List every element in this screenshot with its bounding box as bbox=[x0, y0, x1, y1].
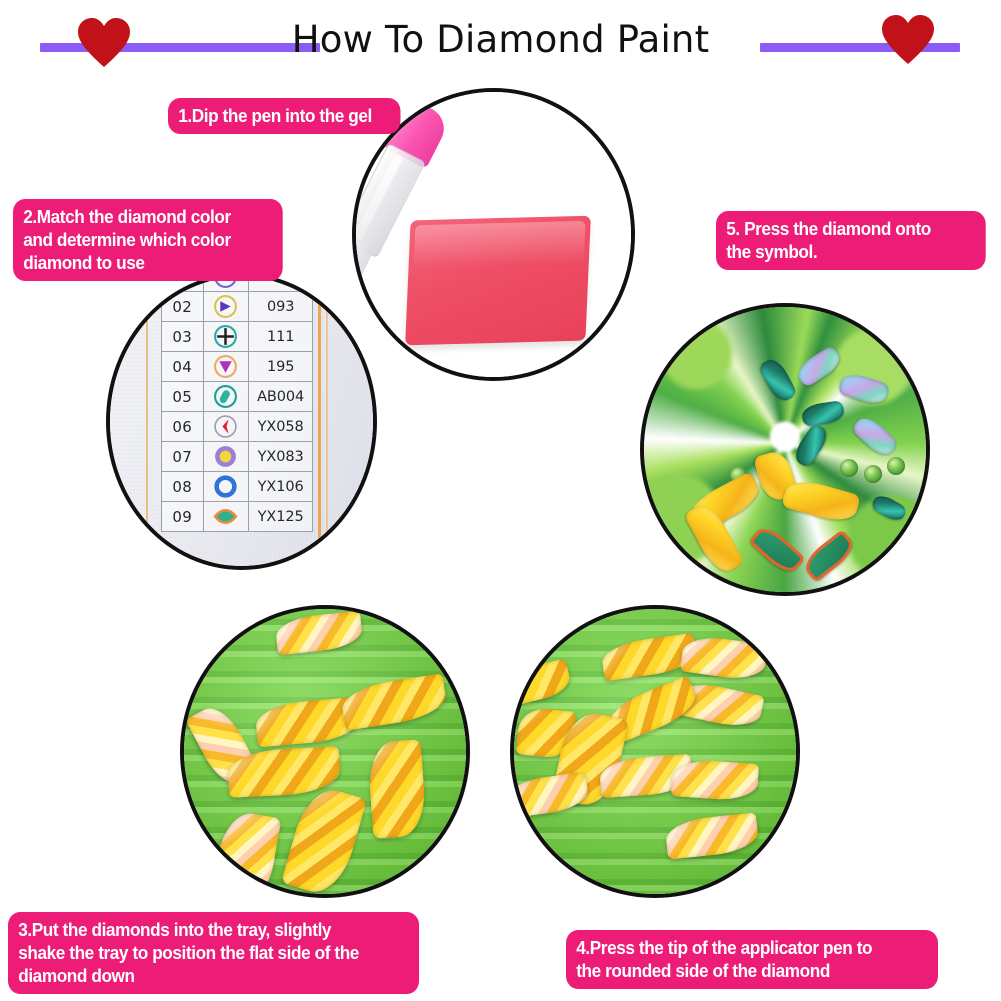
table-row: 05 AB004 bbox=[162, 382, 313, 412]
ring-symbol bbox=[203, 472, 249, 502]
pen-picking-up-diamond-photo bbox=[510, 605, 800, 898]
table-row: 07 YX083 bbox=[162, 442, 313, 472]
arrow-left-symbol bbox=[203, 412, 249, 442]
pressing-diamond-onto-symbol-photo bbox=[640, 303, 930, 596]
step-2-label: 2.Match the diamond color and determine … bbox=[13, 199, 283, 281]
step-5-label: 5. Press the diamond onto the symbol. bbox=[716, 211, 986, 270]
chart-code: YX125 bbox=[249, 502, 313, 532]
diamonds-in-tray-photo bbox=[180, 605, 470, 898]
leaf-symbol bbox=[203, 502, 249, 532]
chart-code: YX106 bbox=[249, 472, 313, 502]
color-chart-closeup-photo: 028 02 093 03 111 04 bbox=[106, 273, 377, 570]
step-3-label: 3.Put the diamonds into the tray, slight… bbox=[8, 912, 419, 994]
chart-number: 05 bbox=[162, 382, 204, 412]
color-chart-table: 028 02 093 03 111 04 bbox=[161, 273, 313, 532]
table-row: 09 YX125 bbox=[162, 502, 313, 532]
table-row: 04 195 bbox=[162, 352, 313, 382]
chart-code: 195 bbox=[249, 352, 313, 382]
chart-number: 07 bbox=[162, 442, 204, 472]
table-row: 03 111 bbox=[162, 322, 313, 352]
chart-margin-line-left bbox=[146, 277, 148, 566]
oval-slash-symbol bbox=[203, 382, 249, 412]
table-row: 06 YX058 bbox=[162, 412, 313, 442]
table-row: 08 YX106 bbox=[162, 472, 313, 502]
gel-square bbox=[405, 216, 591, 346]
chart-number: 09 bbox=[162, 502, 204, 532]
chart-code: YX083 bbox=[249, 442, 313, 472]
chart-number: 06 bbox=[162, 412, 204, 442]
chart-code: 093 bbox=[249, 292, 313, 322]
gem bbox=[840, 459, 858, 477]
triangle-down-symbol bbox=[203, 352, 249, 382]
chart-code: YX058 bbox=[249, 412, 313, 442]
chart-code: 111 bbox=[249, 322, 313, 352]
step-1-label: 1.Dip the pen into the gel bbox=[168, 98, 401, 134]
chart-margin-line-right-2 bbox=[326, 277, 328, 566]
chart-margin-line-right bbox=[318, 277, 321, 566]
gem bbox=[887, 457, 905, 475]
table-row: 02 093 bbox=[162, 292, 313, 322]
gem bbox=[864, 465, 882, 483]
chart-number: 02 bbox=[162, 292, 204, 322]
page-header: How To Diamond Paint bbox=[0, 0, 1001, 80]
chart-number: 08 bbox=[162, 472, 204, 502]
triangle-symbol bbox=[203, 292, 249, 322]
plus-symbol bbox=[203, 322, 249, 352]
filled-circle-symbol bbox=[203, 442, 249, 472]
chart-number: 03 bbox=[162, 322, 204, 352]
chart-code: AB004 bbox=[249, 382, 313, 412]
page-title: How To Diamond Paint bbox=[0, 18, 1001, 61]
chart-number: 04 bbox=[162, 352, 204, 382]
step-4-label: 4.Press the tip of the applicator pen to… bbox=[566, 930, 938, 989]
